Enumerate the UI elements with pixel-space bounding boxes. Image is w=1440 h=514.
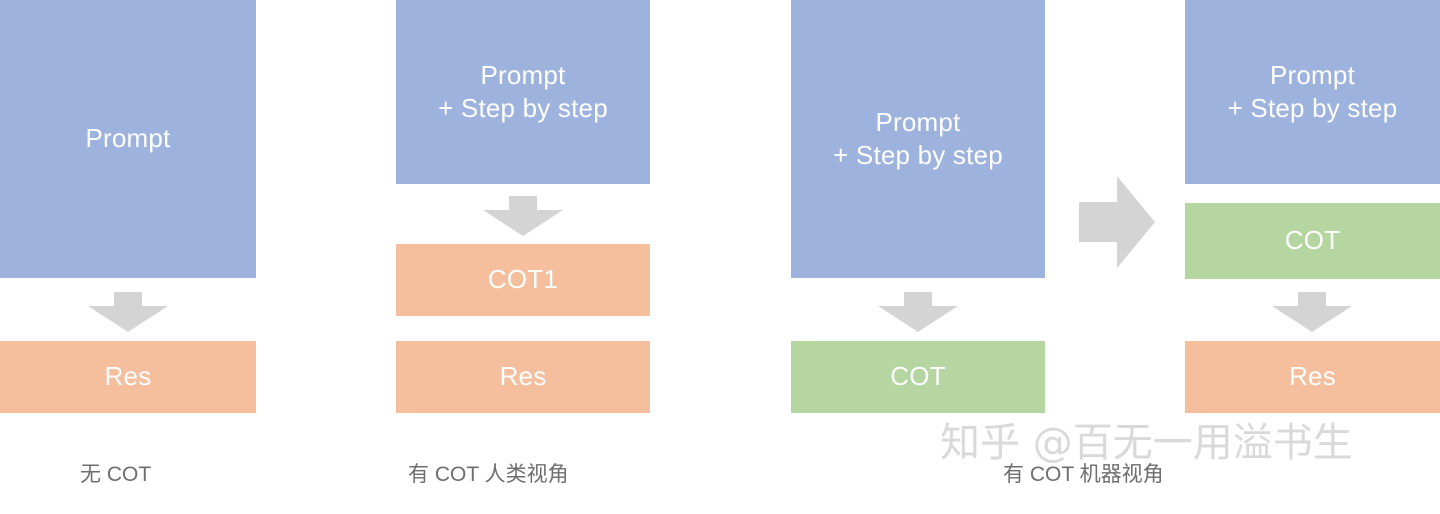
node-label: Prompt [0, 122, 256, 155]
node-prompt-step-col3: Prompt + Step by step [791, 0, 1045, 278]
node-label: Prompt + Step by step [791, 106, 1045, 173]
arrow-down-col2 [483, 196, 563, 236]
arrow-down-col3 [878, 292, 958, 332]
node-cot-col3: COT [791, 341, 1045, 413]
node-label: Res [0, 360, 256, 393]
node-prompt-step-col4: Prompt + Step by step [1185, 0, 1440, 184]
arrow-down-col1 [88, 292, 168, 332]
node-label: COT [1185, 224, 1440, 257]
arrow-down-col4 [1272, 292, 1352, 332]
arrow-right-connector [1079, 176, 1155, 268]
node-cot1-col2: COT1 [396, 244, 650, 316]
caption-col1: 无 COT [80, 462, 151, 487]
node-label: Res [396, 360, 650, 393]
node-prompt-step-col2: Prompt + Step by step [396, 0, 650, 184]
node-prompt-col1: Prompt [0, 0, 256, 278]
node-label: COT1 [396, 263, 650, 296]
node-res-col4: Res [1185, 341, 1440, 413]
node-label: Res [1185, 360, 1440, 393]
caption-col3: 有 COT 机器视角 [1003, 462, 1164, 487]
node-res-col1: Res [0, 341, 256, 413]
node-res-col2: Res [396, 341, 650, 413]
watermark-text: 知乎 @百无一用溢书生 [940, 423, 1353, 463]
node-label: Prompt + Step by step [1185, 59, 1440, 126]
diagram-canvas: Prompt Res 无 COT Prompt + Step by step C… [0, 0, 1440, 514]
node-cot-col4: COT [1185, 203, 1440, 279]
node-label: COT [791, 360, 1045, 393]
node-label: Prompt + Step by step [396, 59, 650, 126]
caption-col2: 有 COT 人类视角 [408, 462, 569, 487]
